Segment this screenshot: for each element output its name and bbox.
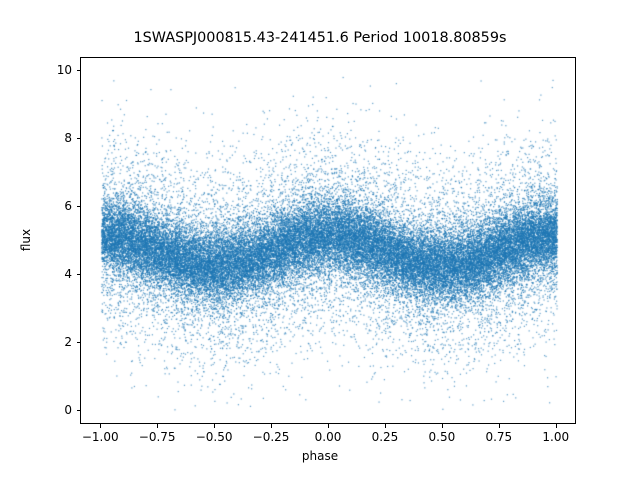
- x-tick-mark: [385, 424, 386, 428]
- x-tick-label: 1.00: [542, 430, 569, 444]
- y-tick-label: 8: [64, 131, 72, 145]
- x-tick-label: 0.00: [315, 430, 342, 444]
- x-tick-mark: [499, 424, 500, 428]
- x-tick-label: −0.50: [196, 430, 233, 444]
- x-tick-mark: [556, 424, 557, 428]
- x-tick-mark: [157, 424, 158, 428]
- x-tick-label: 0.25: [372, 430, 399, 444]
- y-tick-label: 10: [57, 63, 72, 77]
- y-tick-mark: [77, 70, 81, 71]
- y-tick-mark: [77, 274, 81, 275]
- x-tick-mark: [328, 424, 329, 428]
- y-tick-mark: [77, 138, 81, 139]
- x-tick-label: 0.50: [429, 430, 456, 444]
- y-tick-label: 2: [64, 335, 72, 349]
- y-tick-label: 4: [64, 267, 72, 281]
- matplotlib-figure: 1SWASPJ000815.43-241451.6 Period 10018.8…: [0, 0, 640, 480]
- x-tick-mark: [100, 424, 101, 428]
- page-title: 1SWASPJ000815.43-241451.6 Period 10018.8…: [0, 30, 640, 46]
- x-tick-mark: [214, 424, 215, 428]
- y-tick-label: 0: [64, 403, 72, 417]
- plot-axes: [80, 57, 576, 424]
- y-tick-mark: [77, 342, 81, 343]
- y-tick-label: 6: [64, 199, 72, 213]
- x-tick-label: −0.25: [253, 430, 290, 444]
- x-axis-label: phase: [0, 449, 640, 463]
- x-tick-mark: [271, 424, 272, 428]
- x-tick-mark: [442, 424, 443, 428]
- y-tick-mark: [77, 410, 81, 411]
- x-tick-label: −1.00: [82, 430, 119, 444]
- x-tick-label: −0.75: [139, 430, 176, 444]
- y-tick-mark: [77, 206, 81, 207]
- x-tick-label: 0.75: [485, 430, 512, 444]
- scatter-plot-canvas: [81, 58, 576, 424]
- y-axis-label: flux: [19, 229, 33, 251]
